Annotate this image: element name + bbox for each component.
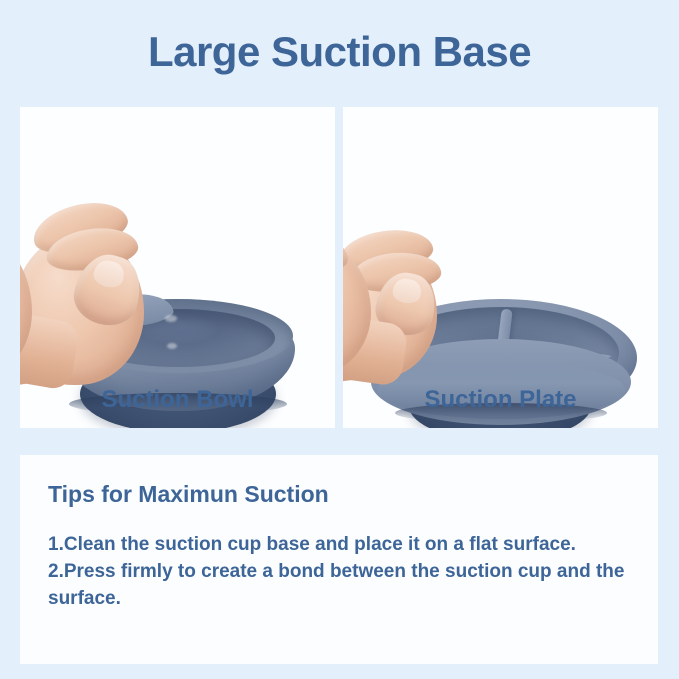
tips-list: 1.Clean the suction cup base and place i… xyxy=(48,531,636,612)
suction-bowl-photo: Suction Bowl xyxy=(20,107,335,428)
tip-item-2: 2.Press firmly to create a bond between … xyxy=(48,558,636,612)
photo-card-suction-bowl[interactable]: Suction Bowl xyxy=(20,107,335,428)
tips-heading: Tips for Maximun Suction xyxy=(48,481,329,508)
photo-card-suction-plate[interactable]: Suction Plate xyxy=(343,107,658,428)
bowl-highlight-2 xyxy=(167,343,177,349)
page-title: Large Suction Base xyxy=(0,28,679,76)
tips-card: Tips for Maximun Suction 1.Clean the suc… xyxy=(20,455,658,664)
product-photo-row: Suction Bowl xyxy=(20,107,658,428)
caption-suction-plate: Suction Plate xyxy=(343,386,658,414)
bowl-highlight-1 xyxy=(165,315,177,322)
suction-plate-photo: Suction Plate xyxy=(343,107,658,428)
infographic-page: Large Suction Base xyxy=(0,0,679,679)
tip-item-1: 1.Clean the suction cup base and place i… xyxy=(48,531,636,558)
caption-suction-bowl: Suction Bowl xyxy=(20,386,335,414)
